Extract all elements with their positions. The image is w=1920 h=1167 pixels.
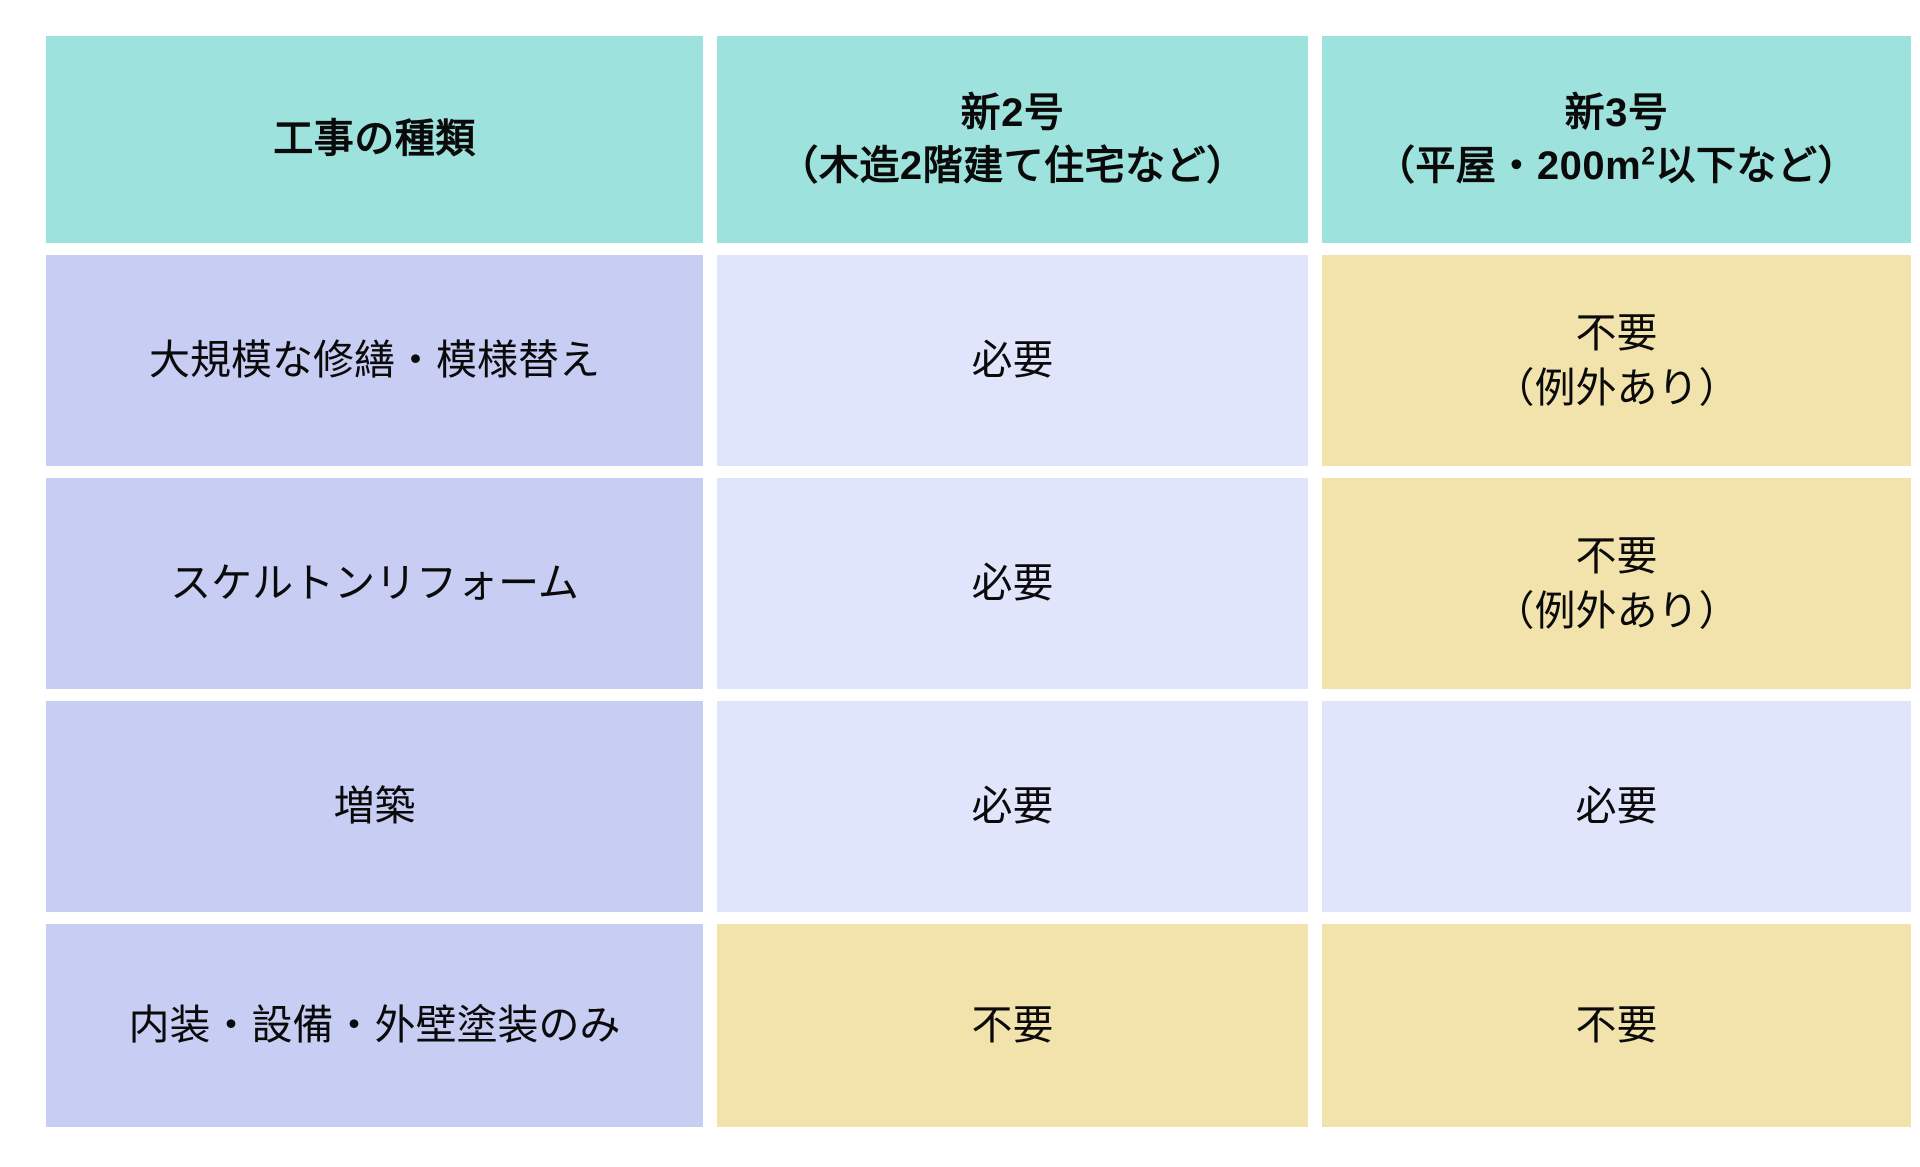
table-cell-1-new-no3-sub: （例外あり） (1494, 584, 1740, 638)
table-cell-2-new-no2-stack: 必要 (972, 779, 1054, 833)
table-cell-0-new-no2-stack: 必要 (972, 333, 1054, 387)
table-cell-3-new-no3: 不要 (1322, 924, 1911, 1127)
row-label-text-0: 大規模な修繕・模様替え (149, 333, 600, 387)
table-row-label-1: スケルトンリフォーム (46, 478, 703, 689)
column-header-new-no3-sub: （平屋・200m2以下など） (1375, 140, 1858, 193)
column-header-new-no2-main: 新2号 (961, 87, 1065, 140)
comparison-table-board: 工事の種類 新2号 （木造2階建て住宅など） 新3号 （平屋・200m2以下など… (0, 0, 1920, 1167)
table-cell-0-new-no2-main: 必要 (972, 333, 1054, 387)
table-cell-2-new-no3-main: 必要 (1576, 779, 1658, 833)
table-cell-0-new-no3-sub: （例外あり） (1494, 361, 1740, 415)
table-cell-3-new-no2-stack: 不要 (972, 998, 1054, 1052)
table-cell-2-new-no2: 必要 (717, 701, 1308, 912)
table-row-label-3: 内装・設備・外壁塗装のみ (46, 924, 703, 1127)
table-cell-1-new-no3: 不要 （例外あり） (1322, 478, 1911, 689)
table-cell-0-new-no3-main: 不要 (1576, 306, 1658, 360)
row-label-text-2: 増築 (334, 779, 416, 833)
requirement-comparison-table: 工事の種類 新2号 （木造2階建て住宅など） 新3号 （平屋・200m2以下など… (46, 36, 1898, 1127)
column-header-work-type: 工事の種類 (46, 36, 703, 243)
table-cell-3-new-no3-stack: 不要 (1576, 998, 1658, 1052)
table-cell-1-new-no3-main: 不要 (1576, 529, 1658, 583)
row-label-text-1: スケルトンリフォーム (170, 556, 579, 610)
column-header-new-no3-main: 新3号 (1565, 87, 1669, 140)
table-row-label-0: 大規模な修繕・模様替え (46, 255, 703, 466)
row-label-text-3: 内装・設備・外壁塗装のみ (129, 998, 621, 1052)
table-cell-3-new-no2: 不要 (717, 924, 1308, 1127)
table-cell-1-new-no2-main: 必要 (972, 556, 1054, 610)
table-row-label-2: 増築 (46, 701, 703, 912)
column-header-new-no2-stack: 新2号 （木造2階建て住宅など） (778, 87, 1246, 193)
table-cell-2-new-no2-main: 必要 (972, 779, 1054, 833)
table-cell-0-new-no3: 不要 （例外あり） (1322, 255, 1911, 466)
column-header-new-no2: 新2号 （木造2階建て住宅など） (717, 36, 1308, 243)
column-header-new-no3-stack: 新3号 （平屋・200m2以下など） (1375, 87, 1858, 193)
table-cell-0-new-no3-stack: 不要 （例外あり） (1494, 306, 1740, 414)
column-header-work-type-stack: 工事の種類 (273, 113, 476, 166)
table-cell-2-new-no3-stack: 必要 (1576, 779, 1658, 833)
table-cell-1-new-no3-stack: 不要 （例外あり） (1494, 529, 1740, 637)
table-cell-2-new-no3: 必要 (1322, 701, 1911, 912)
column-header-new-no3-sub-post: 以下など） (1656, 144, 1859, 188)
column-header-new-no3-sub-superscript: 2 (1641, 143, 1655, 170)
column-header-new-no3: 新3号 （平屋・200m2以下など） (1322, 36, 1911, 243)
table-cell-0-new-no2: 必要 (717, 255, 1308, 466)
table-cell-1-new-no2-stack: 必要 (972, 556, 1054, 610)
table-cell-3-new-no3-main: 不要 (1576, 998, 1658, 1052)
table-cell-1-new-no2: 必要 (717, 478, 1308, 689)
column-header-new-no2-sub: （木造2階建て住宅など） (778, 140, 1246, 193)
table-cell-3-new-no2-main: 不要 (972, 998, 1054, 1052)
column-header-work-type-main: 工事の種類 (273, 113, 476, 166)
column-header-new-no3-sub-pre: （平屋・200m (1375, 144, 1641, 188)
